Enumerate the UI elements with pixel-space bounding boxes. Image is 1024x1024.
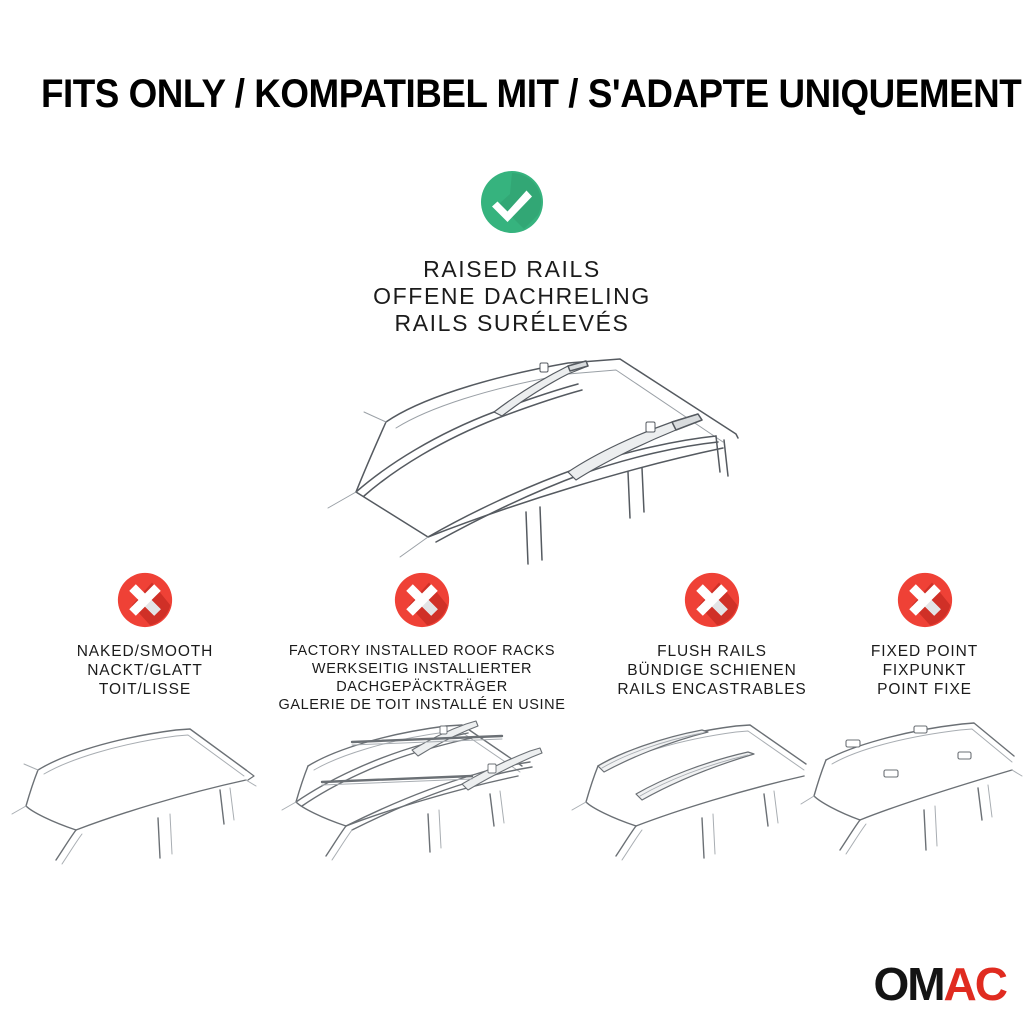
label-line: NACKT/GLATT [20,661,270,680]
compatible-section: RAISED RAILS OFFENE DACHRELING RAILS SUR… [0,170,1024,337]
red-x-circle-icon [394,572,450,628]
compatible-label-en: RAISED RAILS [0,256,1024,283]
incompatible-labels: FIXED POINT FIXPUNKT POINT FIXE [832,642,1017,699]
incompatible-item-factory-roof-racks: FACTORY INSTALLED ROOF RACKS WERKSEITIG … [262,572,582,714]
logo-text-ac: AC [944,962,1006,1006]
page-title: FITS ONLY / KOMPATIBEL MIT / S'ADAPTE UN… [41,72,983,117]
car-roof-fixed-point-diagram [798,718,1024,893]
car-roof-naked-smooth-diagram [8,718,270,893]
incompatible-item-fixed-point: FIXED POINT FIXPUNKT POINT FIXE [832,572,1017,699]
label-line: POINT FIXE [832,680,1017,699]
label-line: GALERIE DE TOIT INSTALLÉ EN USINE [262,696,582,714]
label-line: FACTORY INSTALLED ROOF RACKS [262,642,582,660]
incompatible-item-flush-rails: FLUSH RAILS BÜNDIGE SCHIENEN RAILS ENCAS… [592,572,832,699]
label-line: FLUSH RAILS [592,642,832,661]
fitment-infographic: FITS ONLY / KOMPATIBEL MIT / S'ADAPTE UN… [0,0,1024,1024]
roof-type-illustrations [0,718,1024,918]
incompatible-labels: FACTORY INSTALLED ROOF RACKS WERKSEITIG … [262,642,582,714]
label-line: FIXED POINT [832,642,1017,661]
compatible-label-fr: RAILS SURÉLEVÉS [0,310,1024,337]
compatible-label-de: OFFENE DACHRELING [0,283,1024,310]
label-line: WERKSEITIG INSTALLIERTER [262,660,582,678]
red-x-circle-icon [684,572,740,628]
label-line: NAKED/SMOOTH [20,642,270,661]
omac-logo: OMAC [873,962,1006,1006]
label-line: DACHGEPÄCKTRÄGER [262,678,582,696]
logo-text-om: OM [873,962,943,1006]
label-line: TOIT/LISSE [20,680,270,699]
label-line: RAILS ENCASTRABLES [592,680,832,699]
incompatible-labels: NAKED/SMOOTH NACKT/GLATT TOIT/LISSE [20,642,270,699]
label-line: BÜNDIGE SCHIENEN [592,661,832,680]
incompatible-item-naked-smooth: NAKED/SMOOTH NACKT/GLATT TOIT/LISSE [20,572,270,699]
incompatible-labels: FLUSH RAILS BÜNDIGE SCHIENEN RAILS ENCAS… [592,642,832,699]
red-x-circle-icon [117,572,173,628]
red-x-circle-icon [897,572,953,628]
compatible-labels: RAISED RAILS OFFENE DACHRELING RAILS SUR… [0,256,1024,337]
label-line: FIXPUNKT [832,661,1017,680]
car-roof-raised-rails-diagram [268,352,768,567]
car-roof-flush-rails-diagram [556,718,836,893]
car-roof-factory-racks-diagram [272,718,562,893]
green-check-circle-icon [480,170,544,234]
